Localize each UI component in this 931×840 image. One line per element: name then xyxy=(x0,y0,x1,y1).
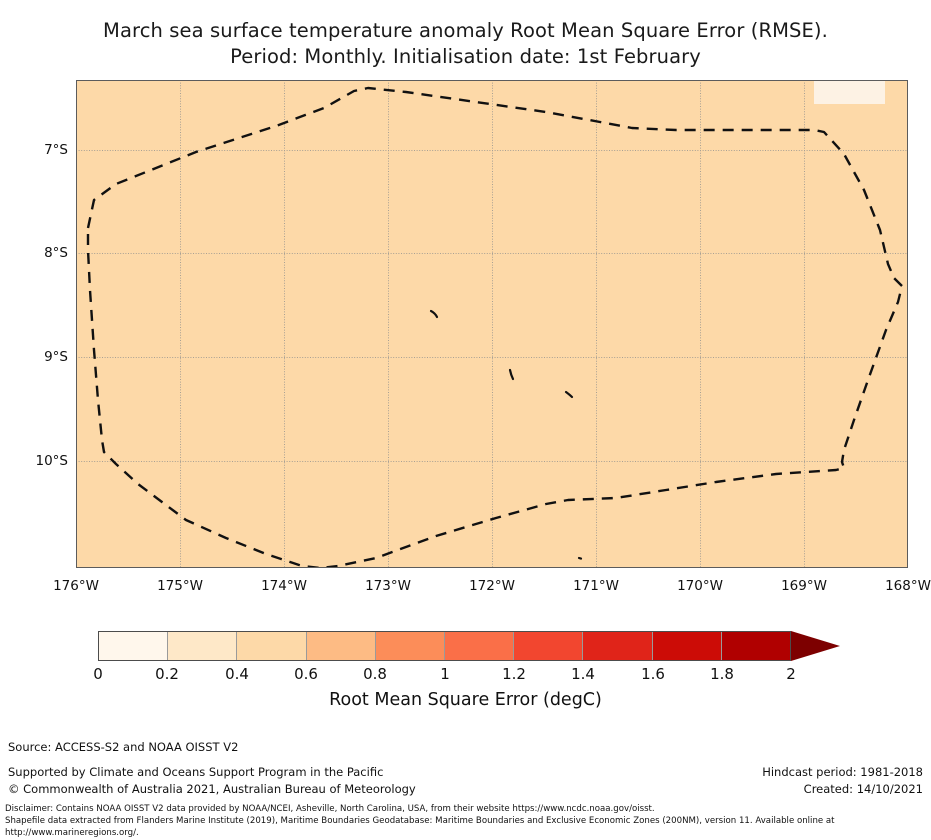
colorbar-tick-label: 0 xyxy=(63,665,133,683)
colorbar-band xyxy=(583,632,652,660)
colorbar-axis-label: Root Mean Square Error (degC) xyxy=(0,690,931,710)
x-tick-label: 174°W xyxy=(239,578,329,594)
x-tick-label: 175°W xyxy=(135,578,225,594)
colorbar-tick-label: 1.6 xyxy=(618,665,688,683)
map-plot-area xyxy=(76,80,908,568)
disclaimer-line1: Disclaimer: Contains NOAA OISST V2 data … xyxy=(5,803,926,815)
y-axis-ticks: 7°S 8°S 9°S 10°S xyxy=(0,0,68,839)
x-tick-label: 176°W xyxy=(31,578,121,594)
colorbar-band xyxy=(376,632,445,660)
map-canvas xyxy=(76,80,908,568)
footer-source: Source: ACCESS-S2 and NOAA OISST V2 xyxy=(8,740,238,754)
x-tick-label: 169°W xyxy=(759,578,849,594)
x-tick-label: 170°W xyxy=(655,578,745,594)
x-tick-label: 173°W xyxy=(343,578,433,594)
footer-metadata: Hindcast period: 1981-2018 Created: 14/1… xyxy=(762,764,923,797)
colorbar-tick-label: 2 xyxy=(756,665,826,683)
island-outline-4 xyxy=(579,558,581,559)
created-date: Created: 14/10/2021 xyxy=(762,781,923,798)
colorbar-tick-label: 0.2 xyxy=(132,665,202,683)
disclaimer-line3: http://www.marineregions.org/. xyxy=(5,827,926,839)
colorbar-band xyxy=(237,632,306,660)
colorbar-tick-label: 0.4 xyxy=(202,665,272,683)
chart-title-line2: Period: Monthly. Initialisation date: 1s… xyxy=(0,44,931,70)
hindcast-period: Hindcast period: 1981-2018 xyxy=(762,764,923,781)
colorbar-tick-label: 1.2 xyxy=(479,665,549,683)
colorbar-bands xyxy=(98,631,791,661)
island-outlines xyxy=(431,311,581,559)
x-tick-label: 171°W xyxy=(551,578,641,594)
colorbar-band xyxy=(307,632,376,660)
colorbar-tick-label: 1 xyxy=(410,665,480,683)
map-gridlines-vertical xyxy=(77,80,908,568)
chart-title: March sea surface temperature anomaly Ro… xyxy=(0,18,931,69)
colorbar-tick-label: 1.4 xyxy=(548,665,618,683)
colorbar-tick-label: 1.8 xyxy=(687,665,757,683)
y-tick-label: 9°S xyxy=(4,349,68,365)
chart-title-line1: March sea surface temperature anomaly Ro… xyxy=(0,18,931,44)
colorbar-band xyxy=(168,632,237,660)
colorbar-band xyxy=(445,632,514,660)
colorbar-band xyxy=(722,632,790,660)
x-tick-label: 168°W xyxy=(863,578,931,594)
footer-copyright: © Commonwealth of Australia 2021, Austra… xyxy=(8,781,416,798)
eez-boundary-line xyxy=(88,88,902,568)
colorbar-band xyxy=(99,632,168,660)
island-outline-3 xyxy=(566,392,572,397)
colorbar-extend-arrow xyxy=(791,631,840,661)
footer-support-line1: Supported by Climate and Oceans Support … xyxy=(8,764,416,781)
raster-cell-low-value xyxy=(814,80,885,104)
colorbar-tick-label: 0.6 xyxy=(271,665,341,683)
colorbar xyxy=(98,631,840,661)
colorbar-band xyxy=(514,632,583,660)
y-tick-label: 7°S xyxy=(4,142,68,158)
footer-disclaimer: Disclaimer: Contains NOAA OISST V2 data … xyxy=(5,803,926,840)
disclaimer-line2: Shapefile data extracted from Flanders M… xyxy=(5,815,926,827)
colorbar-tick-label: 0.8 xyxy=(340,665,410,683)
island-outline-1 xyxy=(431,311,437,317)
colorbar-band xyxy=(653,632,722,660)
island-outline-2 xyxy=(510,370,513,379)
y-tick-label: 10°S xyxy=(4,453,68,469)
x-tick-label: 172°W xyxy=(447,578,537,594)
footer-support: Supported by Climate and Oceans Support … xyxy=(8,764,416,797)
y-tick-label: 8°S xyxy=(4,245,68,261)
